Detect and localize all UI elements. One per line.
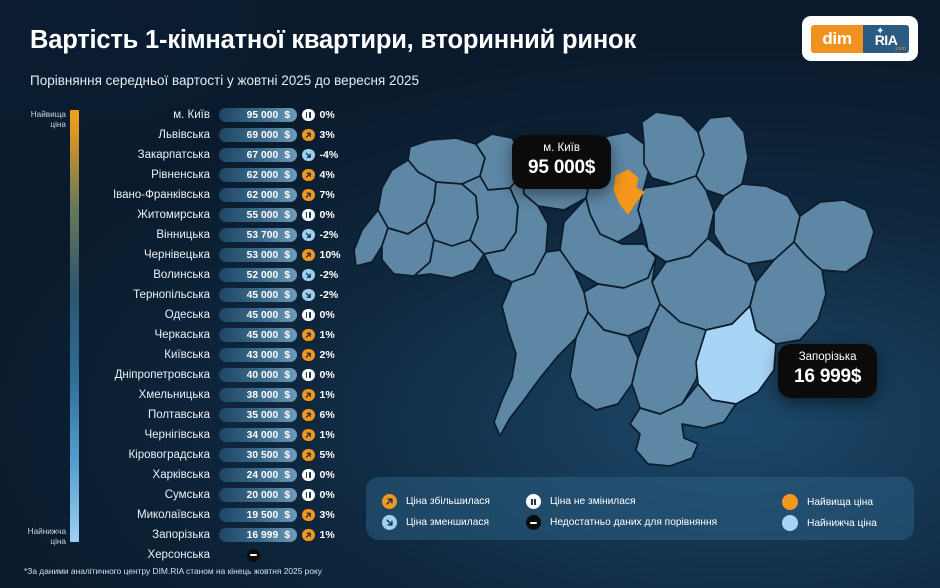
region-name: Черкаська	[96, 329, 219, 341]
region-price-value: 95 000	[247, 110, 279, 121]
table-row[interactable]: Одеська45 000$0%	[96, 305, 346, 325]
pause-bars-icon	[302, 309, 315, 322]
scale-lowest-label: Найнижчаціна	[4, 527, 66, 548]
price-pill: 16 999$	[219, 528, 297, 542]
table-row[interactable]: м. Київ95 000$0%	[96, 105, 346, 125]
star-icon: ✦	[876, 27, 884, 37]
table-row[interactable]: Дніпропетровська40 000$0%	[96, 365, 346, 385]
region-price-value: 53 700	[247, 230, 279, 241]
region-price-value: 55 000	[247, 210, 279, 221]
arrow-down-right-icon	[382, 515, 397, 530]
table-row[interactable]: Житомирська55 000$0%	[96, 205, 346, 225]
region-change-percent: 10%	[320, 249, 341, 261]
legend-item-no-data: Недостатньо даних для порівняння	[526, 515, 717, 530]
region-change-percent: 4%	[320, 169, 335, 181]
pause-bars-icon	[302, 369, 315, 382]
table-row[interactable]: Черкаська45 000$1%	[96, 325, 346, 345]
region-name: Рівненська	[96, 169, 219, 181]
pause-bars-icon	[302, 209, 315, 222]
price-pill: 45 000$	[219, 328, 297, 342]
table-row[interactable]: Херсонська	[96, 545, 346, 565]
table-row[interactable]: Волинська52 000$-2%	[96, 265, 346, 285]
region-change-percent: 6%	[320, 409, 335, 421]
region-name: Харківська	[96, 469, 219, 481]
region-name: Закарпатська	[96, 149, 219, 161]
arrow-up-right-icon	[302, 129, 315, 142]
price-pill: 43 000$	[219, 348, 297, 362]
region-price-value: 16 999	[247, 530, 279, 541]
region-name: Чернівецька	[96, 249, 219, 261]
arrow-up-right-icon	[302, 389, 315, 402]
arrow-up-right-icon	[382, 494, 397, 509]
currency-symbol: $	[284, 270, 290, 281]
arrow-up-right-icon	[302, 509, 315, 522]
currency-symbol: $	[284, 470, 290, 481]
legend-panel: Ціна збільшилася Ціна зменшилася Ціна не…	[366, 477, 914, 540]
table-row[interactable]: Чернівецька53 000$10%	[96, 245, 346, 265]
callout-zaporizhia-value: 16 999$	[794, 365, 861, 389]
table-row[interactable]: Рівненська62 000$4%	[96, 165, 346, 185]
table-row[interactable]: Хмельницька38 000$1%	[96, 385, 346, 405]
arrow-up-right-icon	[302, 189, 315, 202]
arrow-up-right-icon	[302, 349, 315, 362]
region-name: Волинська	[96, 269, 219, 281]
logo-com-text: .com	[894, 46, 906, 52]
logo-inner: dim ✦ RIA .com	[811, 25, 909, 53]
logo-ria-block: ✦ RIA .com	[863, 25, 909, 53]
price-pill: 38 000$	[219, 388, 297, 402]
region-change-percent: 0%	[320, 469, 335, 481]
price-gradient-scale	[70, 110, 79, 542]
region-change-percent: -2%	[320, 289, 339, 301]
legend-item-lowest: Найнижча ціна	[782, 515, 877, 531]
price-pill: 40 000$	[219, 368, 297, 382]
legend-item-price-flat: Ціна не змінилася	[526, 494, 636, 509]
infographic-root: Вартість 1-кімнатної квартири, вторинний…	[0, 0, 940, 588]
region-change-percent: 3%	[320, 129, 335, 141]
region-change-percent: 3%	[320, 509, 335, 521]
legend-label-price-down: Ціна зменшилася	[406, 517, 489, 528]
arrow-up-right-icon	[302, 449, 315, 462]
region-price-value: 53 000	[247, 250, 279, 261]
currency-symbol: $	[284, 210, 290, 221]
region-price-value: 67 000	[247, 150, 279, 161]
region-change-percent: 0%	[320, 489, 335, 501]
table-row[interactable]: Івано-Франківська62 000$7%	[96, 185, 346, 205]
region-price-value: 19 500	[247, 510, 279, 521]
region-name: Львівська	[96, 129, 219, 141]
price-pill: 62 000$	[219, 168, 297, 182]
price-pill: 62 000$	[219, 188, 297, 202]
arrow-up-right-icon	[302, 169, 315, 182]
region-change-percent: 2%	[320, 349, 335, 361]
region-change-percent: 5%	[320, 449, 335, 461]
callout-zaporizhia-name: Запорізька	[794, 351, 861, 365]
price-pill: 67 000$	[219, 148, 297, 162]
legend-item-price-up: Ціна збільшилася	[382, 494, 490, 509]
price-pill: 53 700$	[219, 228, 297, 242]
dim-ria-logo[interactable]: dim ✦ RIA .com	[802, 16, 918, 61]
region-name: Житомирська	[96, 209, 219, 221]
table-row[interactable]: Миколаївська19 500$3%	[96, 505, 346, 525]
region-name: Київська	[96, 349, 219, 361]
region-price-value: 20 000	[247, 490, 279, 501]
currency-symbol: $	[284, 190, 290, 201]
arrow-up-right-icon	[302, 529, 315, 542]
table-row[interactable]: Київська43 000$2%	[96, 345, 346, 365]
price-pill: 55 000$	[219, 208, 297, 222]
region-price-value: 24 000	[247, 470, 279, 481]
region-name: Полтавська	[96, 409, 219, 421]
region-price-value: 62 000	[247, 190, 279, 201]
region-name: м. Київ	[96, 109, 219, 121]
price-pill: 24 000$	[219, 468, 297, 482]
minus-circle-icon	[247, 549, 260, 562]
table-row[interactable]: Запорізька16 999$1%	[96, 525, 346, 545]
currency-symbol: $	[284, 130, 290, 141]
table-row[interactable]: Чернігівська34 000$1%	[96, 425, 346, 445]
region-change-percent: 0%	[320, 309, 335, 321]
minus-circle-icon	[526, 515, 541, 530]
region-price-value: 45 000	[247, 290, 279, 301]
region-price-value: 43 000	[247, 350, 279, 361]
table-row[interactable]: Харківська24 000$0%	[96, 465, 346, 485]
price-pill: 30 500$	[219, 448, 297, 462]
region-change-percent: 1%	[320, 429, 335, 441]
page-title: Вартість 1-кімнатної квартири, вторинний…	[30, 26, 636, 55]
currency-symbol: $	[284, 250, 290, 261]
legend-item-highest: Найвища ціна	[782, 494, 873, 510]
region-change-percent: 0%	[320, 209, 335, 221]
currency-symbol: $	[284, 370, 290, 381]
region-change-percent: -2%	[320, 229, 339, 241]
table-row[interactable]: Кіровоградська30 500$5%	[96, 445, 346, 465]
currency-symbol: $	[284, 510, 290, 521]
region-change-percent: 0%	[320, 369, 335, 381]
price-pill: 95 000$	[219, 108, 297, 122]
currency-symbol: $	[284, 330, 290, 341]
region-price-value: 35 000	[247, 410, 279, 421]
region-name: Одеська	[96, 309, 219, 321]
region-change-percent: -4%	[320, 149, 339, 161]
currency-symbol: $	[284, 150, 290, 161]
region-price-value: 40 000	[247, 370, 279, 381]
region-name: Хмельницька	[96, 389, 219, 401]
legend-label-price-up: Ціна збільшилася	[406, 496, 490, 507]
arrow-down-right-icon	[302, 149, 315, 162]
scale-highest-label: Найвищаціна	[4, 110, 66, 131]
logo-dim-text: dim	[811, 25, 863, 53]
legend-label-highest: Найвища ціна	[807, 497, 873, 508]
arrow-down-right-icon	[302, 289, 315, 302]
price-pill: 52 000$	[219, 268, 297, 282]
region-change-percent: 1%	[320, 389, 335, 401]
pause-bars-icon	[302, 469, 315, 482]
currency-symbol: $	[284, 170, 290, 181]
region-name: Чернігівська	[96, 429, 219, 441]
callout-kyiv-value: 95 000$	[528, 156, 595, 180]
region-price-value: 69 000	[247, 130, 279, 141]
pause-bars-icon	[302, 489, 315, 502]
region-price-value: 45 000	[247, 310, 279, 321]
legend-item-price-down: Ціна зменшилася	[382, 515, 489, 530]
callout-kyiv-name: м. Київ	[528, 142, 595, 156]
currency-symbol: $	[284, 530, 290, 541]
region-price-value: 62 000	[247, 170, 279, 181]
region-name: Херсонська	[96, 549, 219, 561]
currency-symbol: $	[284, 390, 290, 401]
price-pill: 34 000$	[219, 428, 297, 442]
currency-symbol: $	[284, 310, 290, 321]
callout-kyiv[interactable]: м. Київ 95 000$	[512, 135, 611, 189]
table-row[interactable]: Львівська69 000$3%	[96, 125, 346, 145]
region-name: Івано-Франківська	[96, 189, 219, 201]
arrow-up-right-icon	[302, 329, 315, 342]
currency-symbol: $	[284, 490, 290, 501]
table-row[interactable]: Вінницька53 700$-2%	[96, 225, 346, 245]
highest-price-dot-icon	[782, 494, 798, 510]
price-pill: 69 000$	[219, 128, 297, 142]
footer-note: *За даними аналітичного центру DIM.RIA с…	[24, 566, 322, 576]
arrow-up-right-icon	[302, 409, 315, 422]
table-row[interactable]: Тернопільська45 000$-2%	[96, 285, 346, 305]
currency-symbol: $	[284, 110, 290, 121]
pause-bars-icon	[526, 494, 541, 509]
page-subtitle: Порівняння середньої вартості у жовтні 2…	[30, 73, 419, 88]
region-change-percent: 1%	[320, 329, 335, 341]
region-change-percent: 0%	[320, 109, 335, 121]
region-name: Дніпропетровська	[96, 369, 219, 381]
currency-symbol: $	[284, 430, 290, 441]
arrow-up-right-icon	[302, 429, 315, 442]
currency-symbol: $	[284, 290, 290, 301]
price-pill: 45 000$	[219, 308, 297, 322]
pause-bars-icon	[302, 109, 315, 122]
table-row[interactable]: Закарпатська67 000$-4%	[96, 145, 346, 165]
price-pill: 53 000$	[219, 248, 297, 262]
currency-symbol: $	[284, 230, 290, 241]
price-pill: 20 000$	[219, 488, 297, 502]
table-row[interactable]: Полтавська35 000$6%	[96, 405, 346, 425]
legend-label-lowest: Найнижча ціна	[807, 518, 877, 529]
region-price-value: 38 000	[247, 390, 279, 401]
region-price-value: 30 500	[247, 450, 279, 461]
region-price-list: м. Київ95 000$0%Львівська69 000$3%Закарп…	[96, 105, 346, 565]
legend-label-no-data: Недостатньо даних для порівняння	[550, 517, 717, 528]
map-region-chernihiv	[642, 112, 704, 184]
region-price-value: 45 000	[247, 330, 279, 341]
arrow-down-right-icon	[302, 229, 315, 242]
region-price-value: 34 000	[247, 430, 279, 441]
region-name: Запорізька	[96, 529, 219, 541]
map-region-sumy	[696, 116, 748, 196]
currency-symbol: $	[284, 410, 290, 421]
table-row[interactable]: Сумська20 000$0%	[96, 485, 346, 505]
region-name: Тернопільська	[96, 289, 219, 301]
legend-label-price-flat: Ціна не змінилася	[550, 496, 636, 507]
region-name: Вінницька	[96, 229, 219, 241]
currency-symbol: $	[284, 350, 290, 361]
callout-zaporizhia[interactable]: Запорізька 16 999$	[778, 344, 877, 398]
ukraine-map	[352, 92, 928, 484]
currency-symbol: $	[284, 450, 290, 461]
region-change-percent: -2%	[320, 269, 339, 281]
region-name: Миколаївська	[96, 509, 219, 521]
price-pill: 45 000$	[219, 288, 297, 302]
lowest-price-dot-icon	[782, 515, 798, 531]
region-change-percent: 1%	[320, 529, 335, 541]
region-name: Кіровоградська	[96, 449, 219, 461]
region-name: Сумська	[96, 489, 219, 501]
arrow-down-right-icon	[302, 269, 315, 282]
price-pill: 19 500$	[219, 508, 297, 522]
region-price-value: 52 000	[247, 270, 279, 281]
arrow-up-right-icon	[302, 249, 315, 262]
region-change-percent: 7%	[320, 189, 335, 201]
price-pill: 35 000$	[219, 408, 297, 422]
